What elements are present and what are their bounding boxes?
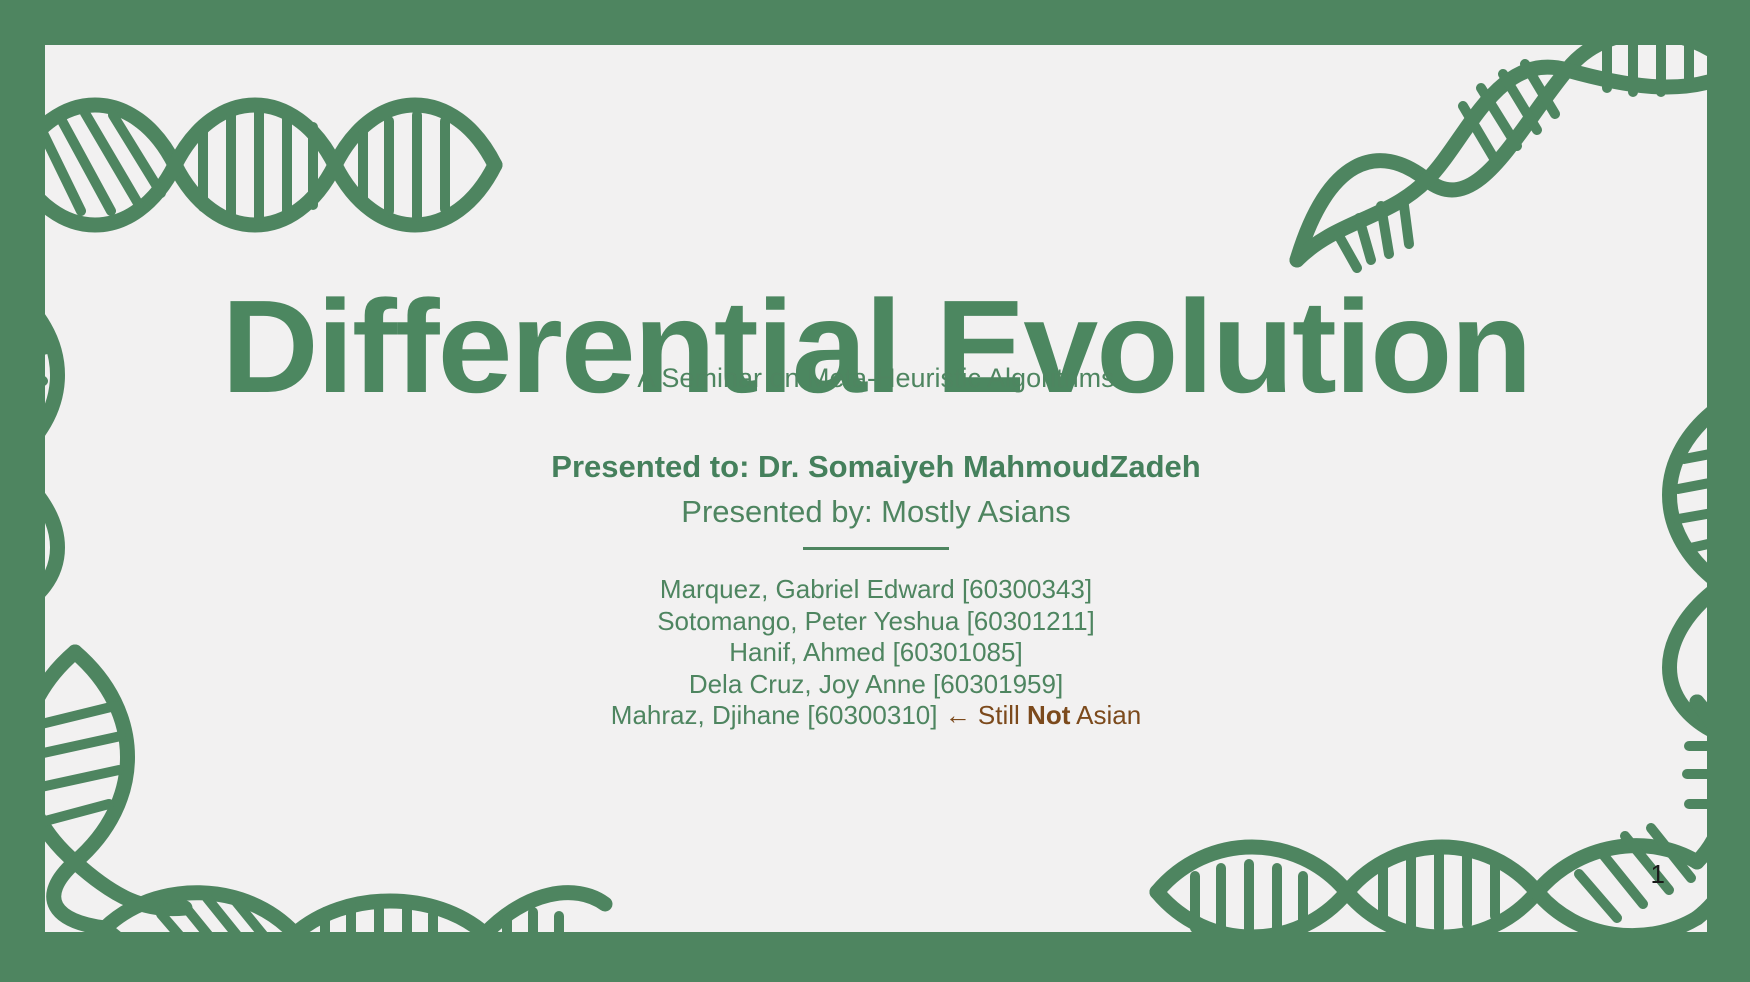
- list-item: Sotomango, Peter Yeshua [60301211]: [45, 606, 1707, 638]
- divider-rule: [803, 547, 949, 550]
- slide-panel: Differential Evolution A Seminar on Meta…: [45, 45, 1707, 932]
- note-suffix: Asian: [1070, 700, 1141, 730]
- note-emphasis: Not: [1027, 700, 1070, 730]
- divider: [45, 547, 1707, 550]
- dna-helix-icon-top-left: [45, 45, 545, 285]
- list-item-with-note: Mahraz, Djihane [60300310] ← Still Not A…: [45, 700, 1707, 732]
- slide-subtitle: A Seminar on Meta-Heuristic Algorithms: [45, 363, 1707, 394]
- author-list: Marquez, Gabriel Edward [60300343] Sotom…: [45, 574, 1707, 732]
- slide-number: 1: [1651, 859, 1665, 890]
- dna-helix-icon-bottom-right: [1177, 712, 1707, 932]
- list-item: Dela Cruz, Joy Anne [60301959]: [45, 669, 1707, 701]
- list-item: Hanif, Ahmed [60301085]: [45, 637, 1707, 669]
- presented-by-line: Presented by: Mostly Asians: [45, 494, 1707, 530]
- presented-to-line: Presented to: Dr. Somaiyeh MahmoudZadeh: [45, 449, 1707, 485]
- presentation-slide: Differential Evolution A Seminar on Meta…: [0, 0, 1750, 982]
- author-name: Mahraz, Djihane [60300310]: [611, 700, 945, 730]
- left-arrow-icon: ←: [945, 700, 978, 730]
- list-item: Marquez, Gabriel Edward [60300343]: [45, 574, 1707, 606]
- dna-helix-icon-top-right: [1267, 45, 1707, 310]
- note-prefix: Still: [978, 700, 1027, 730]
